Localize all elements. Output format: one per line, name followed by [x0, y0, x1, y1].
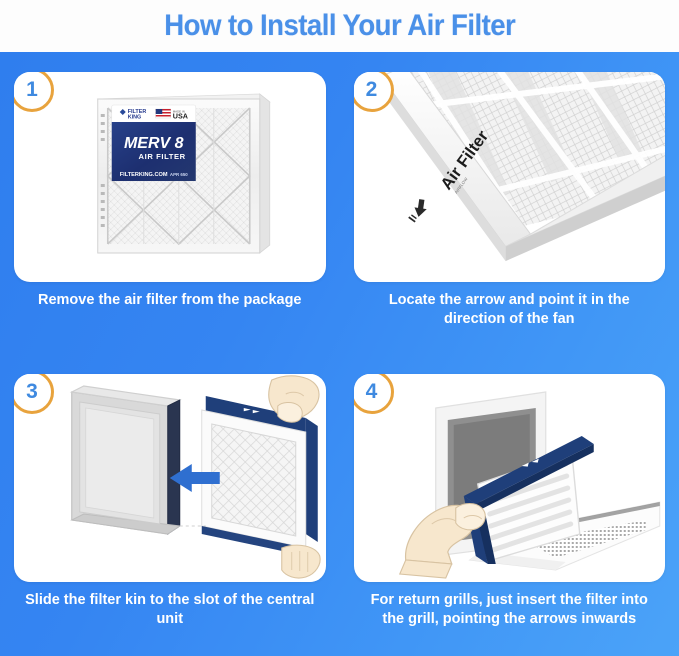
- step-2-illustration: Air Filter AIRFLOW: [354, 72, 666, 282]
- svg-text:USA: USA: [173, 112, 188, 121]
- step-caption-2: Locate the arrow and point it in the dir…: [354, 291, 666, 330]
- step-card-3: 3 Slide the filter kin to the slot of th…: [0, 354, 340, 656]
- svg-text:AIR FILTER: AIR FILTER: [139, 152, 186, 161]
- step-4-illustration: [354, 374, 666, 582]
- step-3-image-card: 3: [14, 374, 326, 582]
- step-caption-1: Remove the air filter from the package: [14, 291, 326, 310]
- step-2-image-card: Air Filter AIRFLOW 2: [354, 72, 666, 282]
- svg-text:FILTERKING.COM: FILTERKING.COM: [120, 172, 168, 178]
- step-4-image-card: 4: [354, 374, 666, 582]
- step-card-1: FILTER KING MADE IN USA: [0, 52, 340, 354]
- step-card-2: Air Filter AIRFLOW 2 Locate the arrow an…: [340, 52, 679, 354]
- step-1-illustration: FILTER KING MADE IN USA: [14, 72, 326, 282]
- usa-flag-icon: [156, 109, 171, 118]
- step-1-image-card: FILTER KING MADE IN USA: [14, 72, 326, 282]
- svg-text:KING: KING: [128, 115, 141, 121]
- step-card-4: 4 For return grills, just insert the fil…: [340, 354, 679, 656]
- step-caption-4: For return grills, just insert the filte…: [354, 591, 666, 630]
- step-3-illustration: [14, 374, 326, 582]
- infographic-poster: How to Install Your Air Filter: [0, 0, 679, 656]
- steps-grid: FILTER KING MADE IN USA: [0, 52, 679, 656]
- poster-header: How to Install Your Air Filter: [0, 0, 679, 52]
- step-caption-3: Slide the filter kin to the slot of the …: [14, 591, 326, 630]
- page-title: How to Install Your Air Filter: [164, 9, 515, 43]
- svg-text:MERV 8: MERV 8: [124, 135, 184, 152]
- svg-text:APR 650: APR 650: [170, 172, 188, 177]
